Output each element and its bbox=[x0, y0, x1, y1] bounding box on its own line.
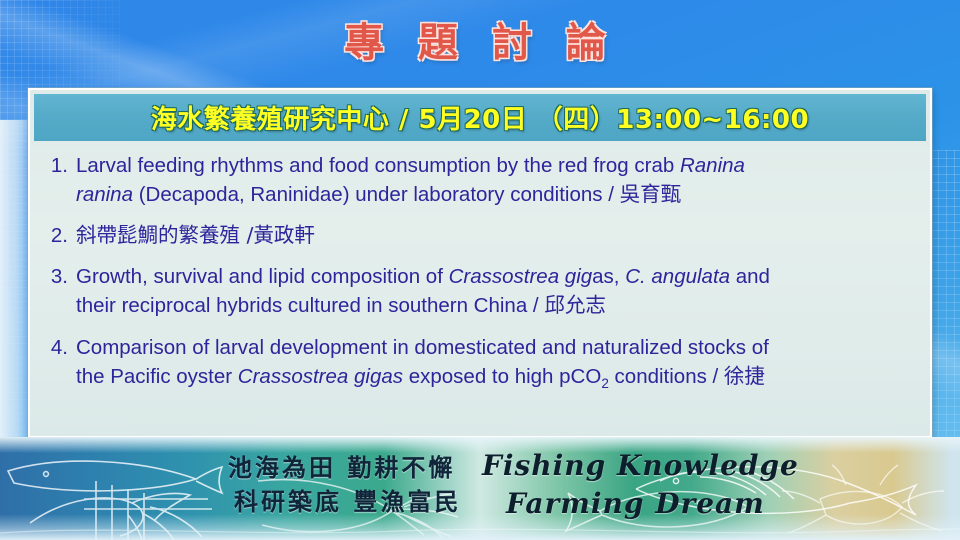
item4-species: Crassostrea gigas bbox=[238, 365, 403, 388]
item1-line1-pre: Larval feeding rhythms and food consumpt… bbox=[76, 154, 680, 177]
slide-title: 專 題 討 論 bbox=[0, 10, 960, 68]
item4-line2-post: conditions / 徐捷 bbox=[609, 365, 765, 388]
list-item-number: 1. bbox=[42, 151, 76, 180]
list-item: 1. Larval feeding rhythms and food consu… bbox=[42, 151, 912, 209]
footer-top-fade bbox=[0, 437, 960, 453]
list-item: 4. Comparison of larval development in d… bbox=[42, 333, 912, 393]
list-item-text: Comparison of larval development in dome… bbox=[76, 333, 912, 393]
item1-line2-post: (Decapoda, Raninidae) under laboratory c… bbox=[133, 183, 681, 206]
footer-bottom-fade bbox=[0, 514, 960, 540]
item1-species-1: Ranina bbox=[680, 154, 745, 177]
subtitle-text: 海水繁養殖研究中心 / 5月20日 （四）13:00~16:00 bbox=[151, 99, 809, 136]
footer-slogan-english: Fishing Knowledge Farming Dream bbox=[482, 447, 799, 523]
presentation-list: 1. Larval feeding rhythms and food consu… bbox=[42, 151, 912, 393]
footer-slogan-chinese: 池海為田 勤耕不懈 科研築底 豐漁富民 bbox=[228, 451, 461, 519]
list-item: 2. 斜帶髭鯛的繁養殖 /黃政軒 bbox=[42, 221, 912, 250]
subtitle-bar: 海水繁養殖研究中心 / 5月20日 （四）13:00~16:00 bbox=[34, 94, 926, 141]
item3-line1-mid: as, bbox=[592, 265, 625, 288]
item4-line1: Comparison of larval development in dome… bbox=[76, 336, 769, 359]
list-item: 3. Growth, survival and lipid compositio… bbox=[42, 262, 912, 320]
item3-line2: their reciprocal hybrids cultured in sou… bbox=[76, 294, 606, 317]
list-item-text: 斜帶髭鯛的繁養殖 /黃政軒 bbox=[76, 221, 912, 250]
item1-species-2: ranina bbox=[76, 183, 133, 206]
item3-line1-pre: Growth, survival and lipid composition o… bbox=[76, 265, 449, 288]
item3-species-1: Crassostrea gig bbox=[449, 265, 593, 288]
item3-species-2: C. angulata bbox=[625, 265, 730, 288]
footer-slogan-cn-line2: 科研築底 豐漁富民 bbox=[228, 485, 461, 519]
item4-line2-mid: exposed to high pCO bbox=[403, 365, 601, 388]
item3-line1-post: and bbox=[730, 265, 770, 288]
content-panel: 海水繁養殖研究中心 / 5月20日 （四）13:00~16:00 1. Larv… bbox=[28, 88, 932, 438]
footer-slogan-en-line1: Fishing Knowledge bbox=[482, 449, 799, 482]
footer-slogan-en-line2: Farming Dream bbox=[482, 485, 799, 523]
item4-line2-pre: the Pacific oyster bbox=[76, 365, 238, 388]
list-item-number: 3. bbox=[42, 262, 76, 291]
list-item-text: Larval feeding rhythms and food consumpt… bbox=[76, 151, 912, 209]
list-item-number: 2. bbox=[42, 221, 76, 250]
item4-subscript: 2 bbox=[601, 376, 609, 391]
list-item-text: Growth, survival and lipid composition o… bbox=[76, 262, 912, 320]
footer-band: 池海為田 勤耕不懈 科研築底 豐漁富民 Fishing Knowledge Fa… bbox=[0, 437, 960, 540]
list-item-number: 4. bbox=[42, 333, 76, 362]
presentation-slide: 專 題 討 論 海水繁養殖研究中心 / 5月20日 （四）13:00~16:00… bbox=[0, 0, 960, 540]
footer-slogan-cn-line1: 池海為田 勤耕不懈 bbox=[228, 453, 455, 482]
